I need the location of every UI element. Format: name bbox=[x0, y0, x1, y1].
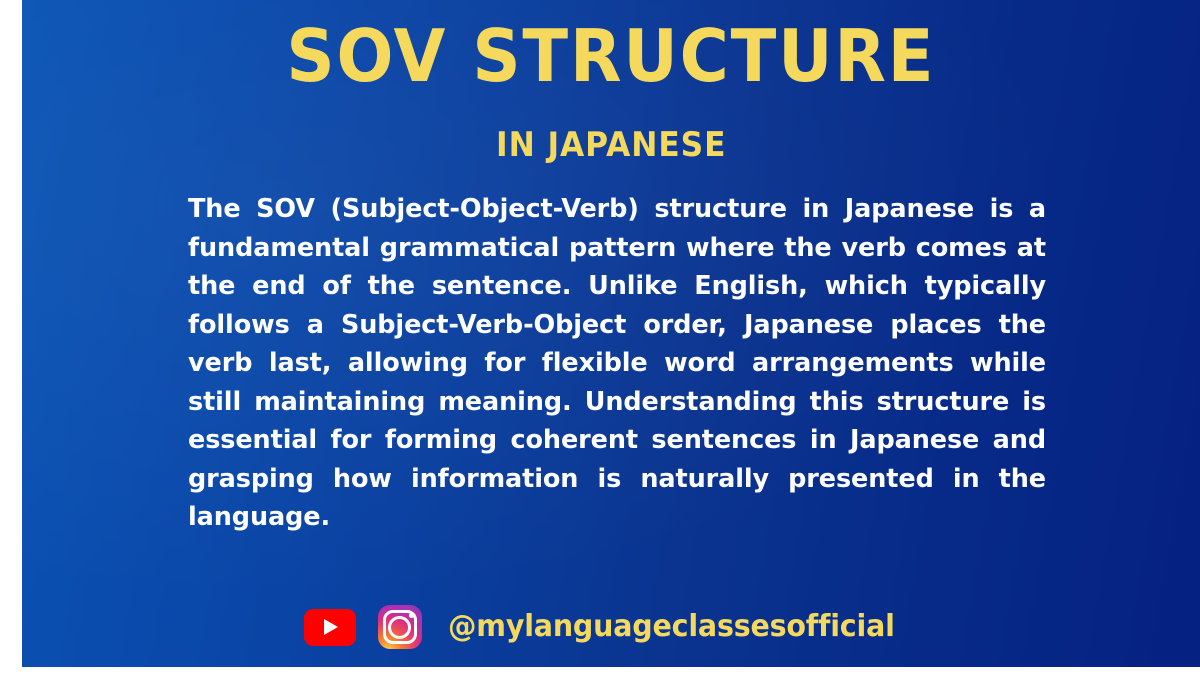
page-subtitle: IN JAPANESE bbox=[496, 128, 726, 162]
body-paragraph: The SOV (Subject-Object-Verb) structure … bbox=[188, 190, 1046, 537]
title-block: SOV STRUCTURE bbox=[22, 20, 1200, 92]
subtitle-block: IN JAPANESE bbox=[22, 128, 1200, 162]
social-handle: @mylanguageclassesofficial bbox=[448, 612, 895, 642]
instagram-dot-icon bbox=[409, 613, 414, 618]
instagram-icon[interactable] bbox=[378, 605, 422, 649]
youtube-icon[interactable] bbox=[304, 609, 356, 646]
body-block: The SOV (Subject-Object-Verb) structure … bbox=[188, 190, 1046, 537]
play-triangle-icon bbox=[324, 619, 338, 635]
slide-canvas: SOV STRUCTURE IN JAPANESE The SOV (Subje… bbox=[22, 0, 1200, 667]
page-title: SOV STRUCTURE bbox=[287, 20, 936, 92]
footer-social-bar: @mylanguageclassesofficial bbox=[22, 605, 1200, 649]
